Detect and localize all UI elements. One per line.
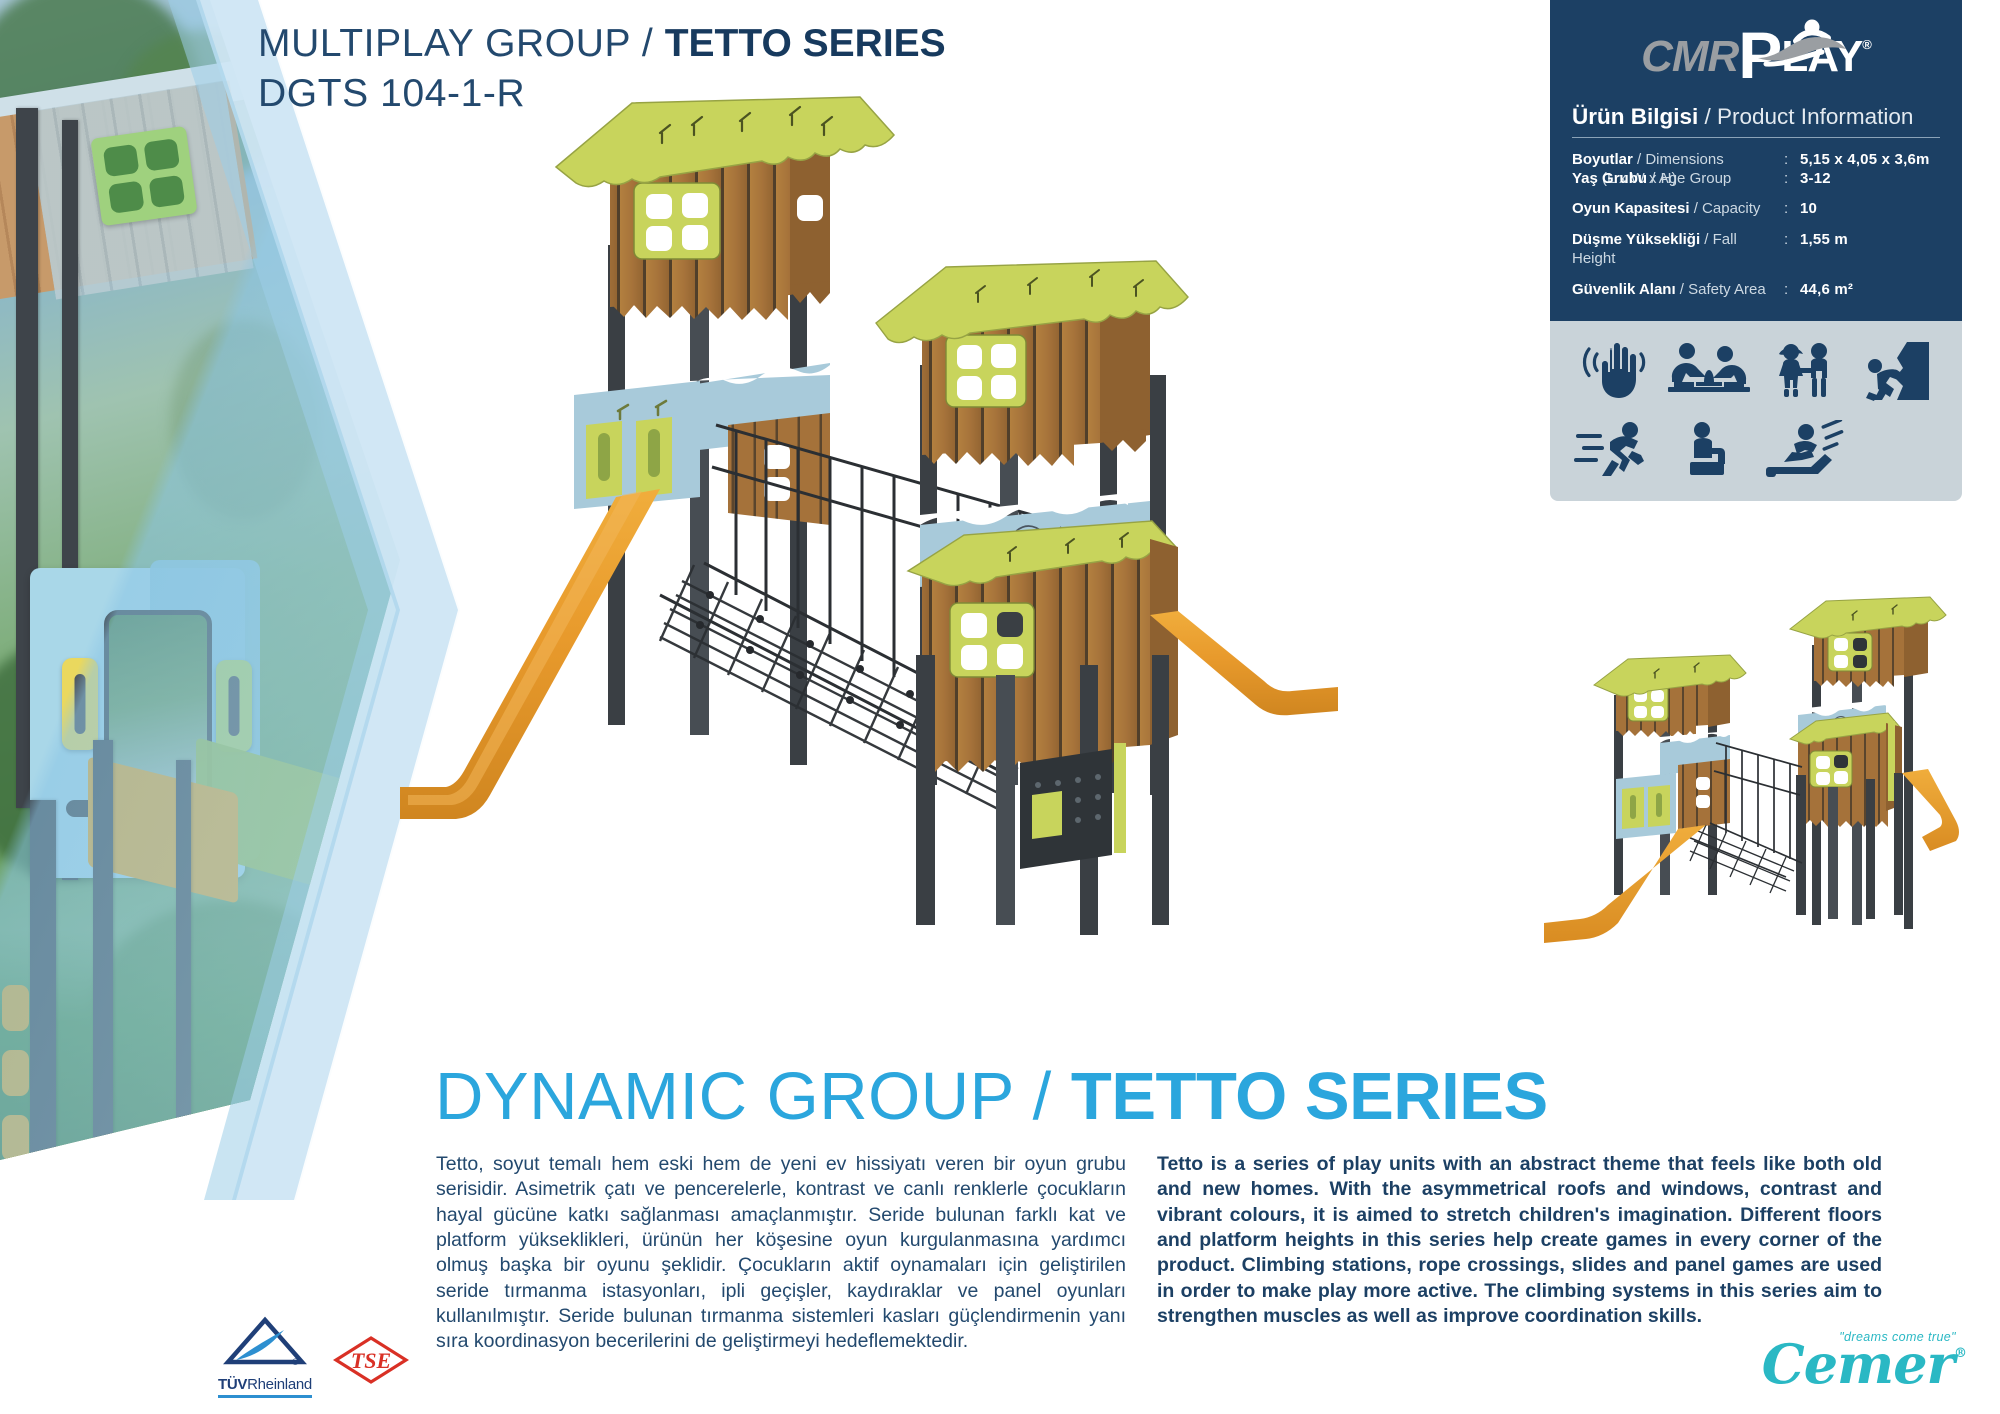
- activity-icons-panel: [1550, 321, 1962, 501]
- section-title-group: DYNAMIC GROUP /: [435, 1059, 1071, 1134]
- photo-post: [176, 760, 191, 1160]
- brand-registered-mark: ®: [1954, 1346, 1966, 1361]
- secondary-product-render: [1530, 575, 1970, 975]
- boy-and-girl-icon: [1758, 335, 1849, 407]
- foliage-blob: [170, 320, 320, 520]
- main-product-render: [360, 95, 1480, 935]
- spec-value-age-group: 3-12: [1800, 170, 1831, 189]
- logo-registered-mark: ®: [1862, 37, 1871, 52]
- description-english: Tetto is a series of play units with an …: [1157, 1152, 1882, 1329]
- spec-label-tr: Yaş Grubu: [1572, 170, 1647, 187]
- info-title-en: / Product Information: [1698, 104, 1913, 129]
- tuv-triangle-icon: ®: [222, 1316, 308, 1370]
- spec-row-safety-area: Güvenlik Alanı / Safety Area : 44,6 m²: [1572, 281, 1940, 300]
- spec-value-capacity: 10: [1800, 200, 1817, 219]
- tuv-registered-mark: ®: [292, 1357, 299, 1367]
- section-title: DYNAMIC GROUP / TETTO SERIES: [435, 1058, 1548, 1135]
- spec-colon: :: [1784, 231, 1800, 269]
- climbing-wall-icon: [1853, 335, 1944, 407]
- cemer-brand-logo: "dreams come true" Cemer®: [1762, 1330, 1966, 1396]
- spec-label-en: / Capacity: [1690, 200, 1761, 217]
- header-series-label: TETTO SERIES: [665, 22, 946, 65]
- brand-wordmark: Cemer®: [1762, 1332, 1966, 1396]
- spec-label: Yaş Grubu / Age Group: [1572, 170, 1784, 189]
- tuv-rheinland-logo: ® TÜVRheinland: [218, 1316, 312, 1398]
- photo-climb-grip: [2, 1050, 29, 1096]
- spec-colon: :: [1784, 200, 1800, 219]
- spec-label-en: / Safety Area: [1676, 281, 1766, 298]
- section-title-series: TETTO SERIES: [1071, 1059, 1548, 1134]
- tse-logo: TSE: [332, 1334, 410, 1386]
- photo-window-panel: [90, 126, 197, 227]
- tuv-wordmark: TÜVRheinland: [218, 1376, 312, 1393]
- sliding-child-icon: [1758, 413, 1849, 485]
- icon-cell-empty: [1853, 413, 1944, 485]
- tuv-underline: [218, 1395, 312, 1398]
- tse-label: TSE: [351, 1348, 391, 1373]
- running-child-icon: [1568, 413, 1659, 485]
- spec-value-safety-area: 44,6 m²: [1800, 281, 1853, 300]
- photo-climb-grip: [2, 985, 29, 1031]
- spec-label: Güvenlik Alanı / Safety Area: [1572, 281, 1784, 300]
- spec-label-tr: Düşme Yüksekliği: [1572, 231, 1700, 248]
- header-group-label: MULTIPLAY GROUP /: [258, 22, 665, 65]
- photo-post: [30, 800, 56, 1160]
- spec-colon: :: [1784, 170, 1800, 189]
- brand-name-text: Cemer: [1762, 1332, 1954, 1396]
- info-title-tr: Ürün Bilgisi: [1572, 104, 1698, 129]
- tuv-bold-part: TÜV: [218, 1376, 247, 1393]
- sitting-child-icon: [1663, 413, 1754, 485]
- photo-climb-grip: [2, 1115, 29, 1160]
- product-information-card: CMRPLAY® Ürün Bilgisi / Product Informat…: [1550, 0, 1962, 501]
- info-card-title: Ürün Bilgisi / Product Information: [1572, 104, 1940, 138]
- certification-logos: ® TÜVRheinland TSE: [218, 1316, 410, 1398]
- photo-green-handle: [216, 660, 252, 752]
- spec-label-tr: Güvenlik Alanı: [1572, 281, 1676, 298]
- spec-label-tr: Boyutlar: [1572, 151, 1633, 168]
- spec-label: Oyun Kapasitesi / Capacity: [1572, 200, 1784, 219]
- photo-post: [93, 740, 113, 1160]
- spec-value-fall-height: 1,55 m: [1800, 231, 1848, 269]
- children-sandpit-play-icon: [1663, 335, 1754, 407]
- tuv-rest-part: Rheinland: [247, 1376, 312, 1393]
- play-figure-swoosh-icon: [1756, 18, 1848, 72]
- waving-hand-icon: [1568, 335, 1659, 407]
- photo-yellow-handle: [62, 658, 98, 750]
- spec-colon: :: [1784, 281, 1800, 300]
- spec-label: Düşme Yüksekliği / Fall Height: [1572, 231, 1784, 269]
- spec-row-fall-height: Düşme Yüksekliği / Fall Height : 1,55 m: [1572, 231, 1940, 269]
- description-turkish: Tetto, soyut temalı hem eski hem de yeni…: [436, 1152, 1126, 1355]
- grass-area: [0, 930, 400, 1160]
- product-photo-panel: [0, 0, 400, 1160]
- spec-row-capacity: Oyun Kapasitesi / Capacity : 10: [1572, 200, 1940, 219]
- info-card-body: CMRPLAY® Ürün Bilgisi / Product Informat…: [1550, 0, 1962, 321]
- spec-label-en: / Dimensions: [1633, 151, 1724, 168]
- cmr-play-logo: CMRPLAY®: [1572, 16, 1940, 104]
- header-title-line: MULTIPLAY GROUP / TETTO SERIES: [258, 22, 946, 66]
- logo-cmr-text: CMR: [1641, 32, 1738, 81]
- spec-label-tr: Oyun Kapasitesi: [1572, 200, 1690, 217]
- spec-label-en: / Age Group: [1647, 170, 1731, 187]
